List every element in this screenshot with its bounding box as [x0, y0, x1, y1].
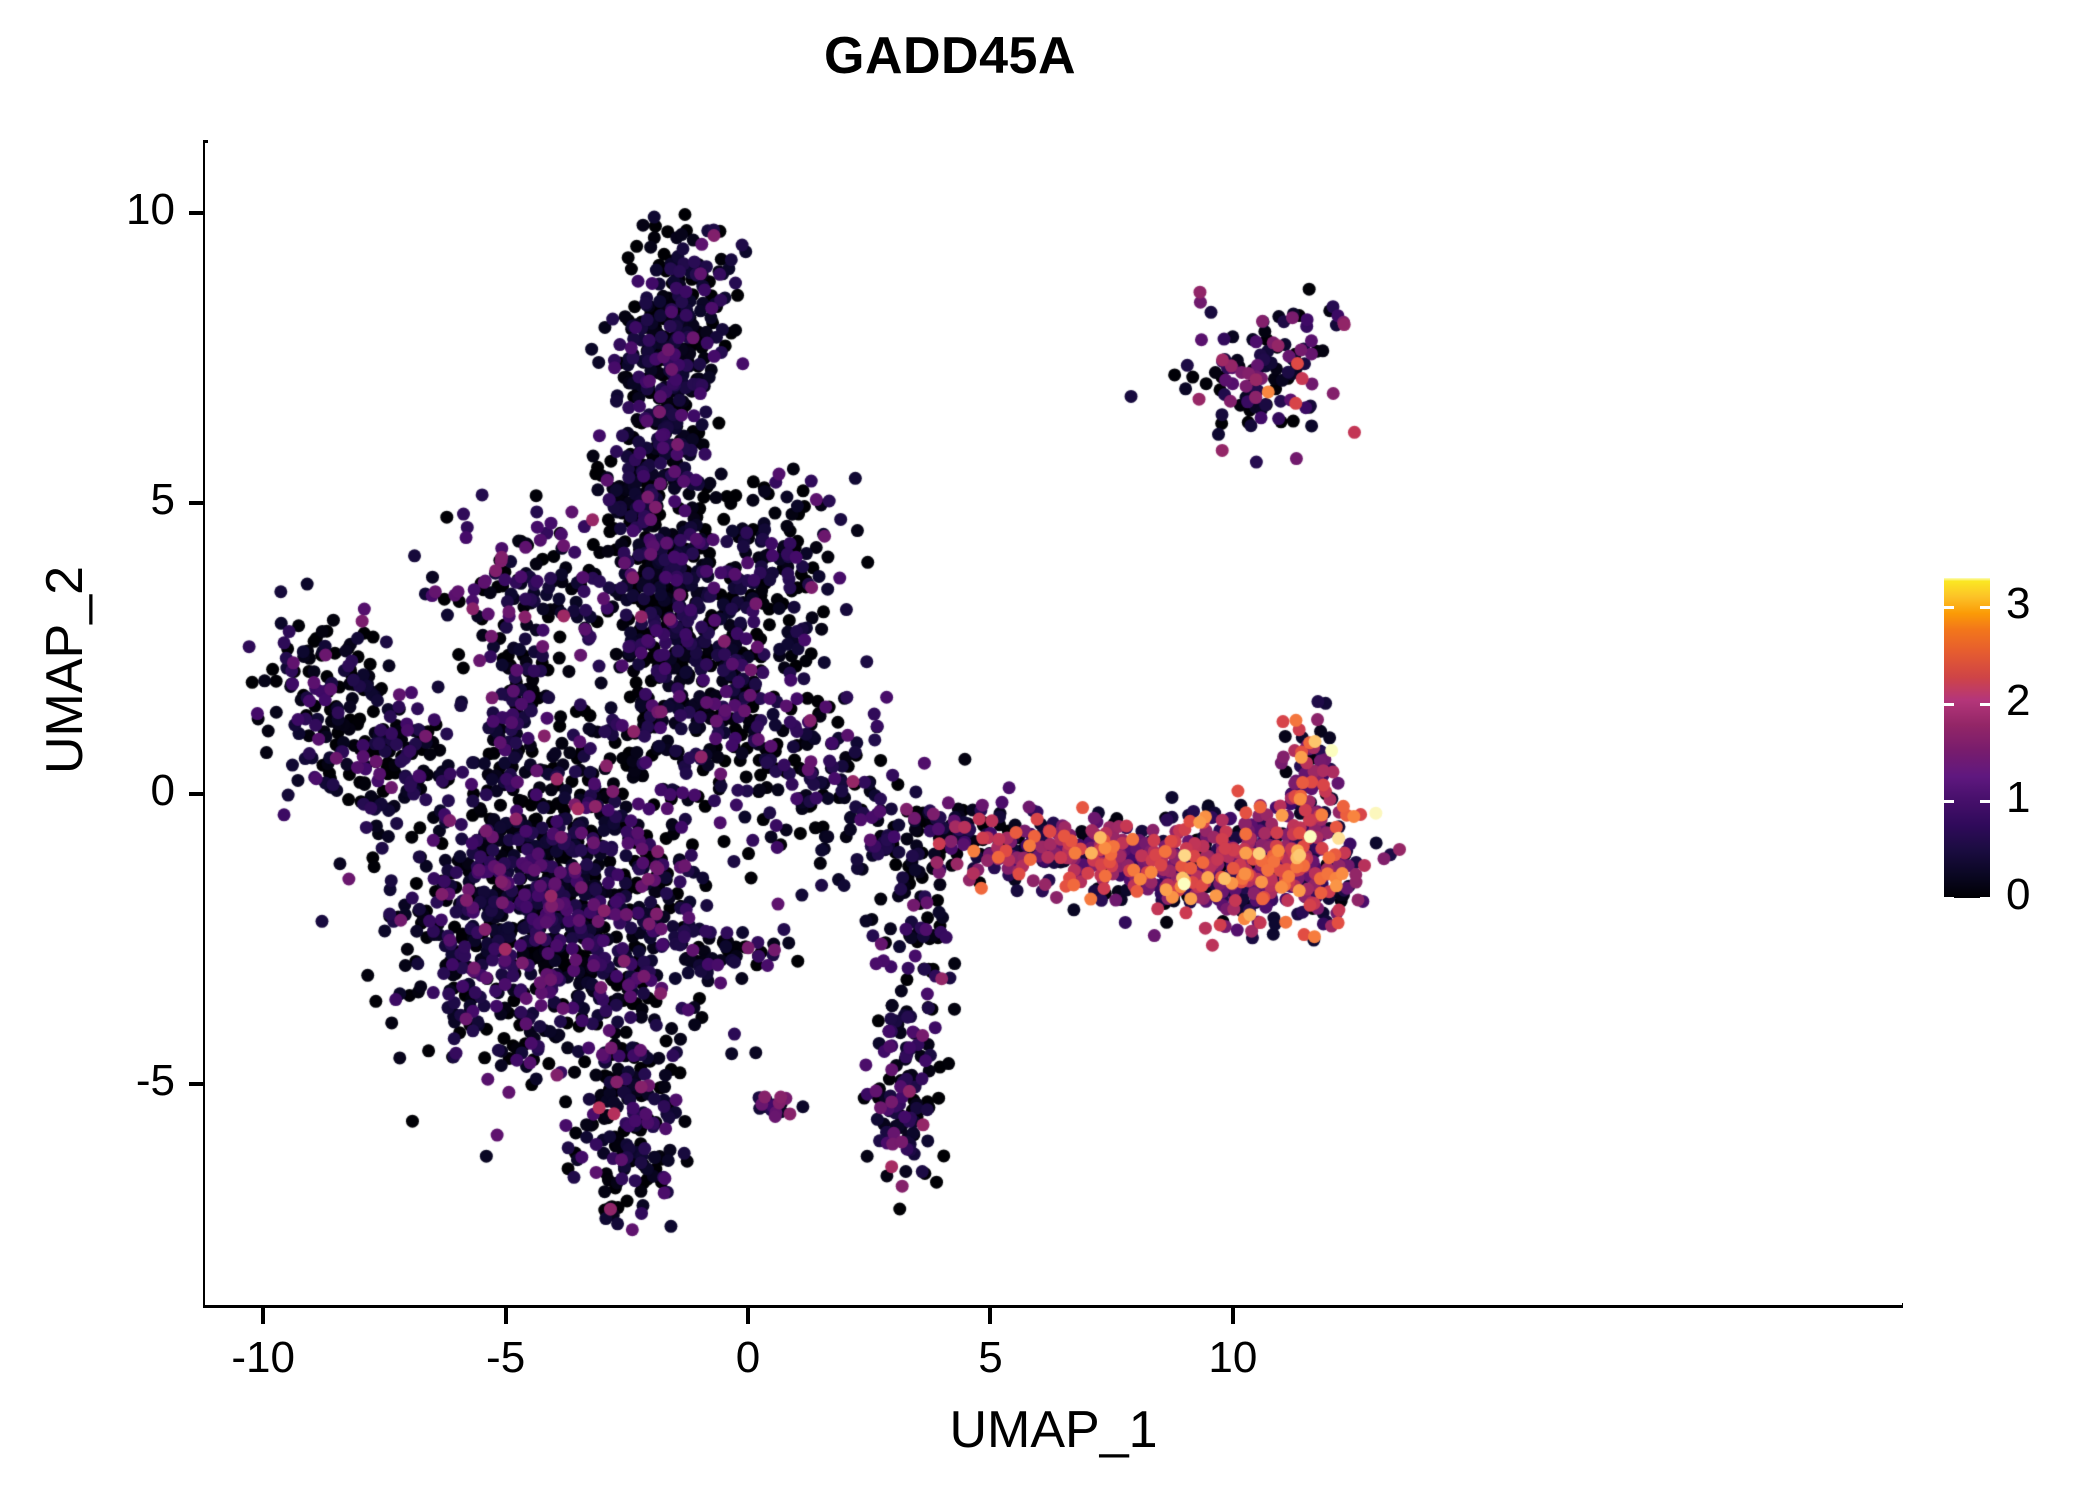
color-legend	[1944, 578, 1990, 898]
y-tick-mark	[189, 1082, 205, 1086]
legend-tick-mark	[1944, 800, 1954, 803]
x-tick-mark	[746, 1308, 750, 1324]
x-tick-mark	[1231, 1308, 1235, 1324]
y-tick-mark	[189, 211, 205, 215]
legend-tick-label: 2	[2006, 676, 2030, 726]
x-tick-label: -5	[416, 1333, 596, 1383]
x-axis-label: UMAP_1	[205, 1400, 1902, 1460]
legend-tick-mark	[1944, 606, 1954, 609]
x-tick-label: 0	[658, 1333, 838, 1383]
legend-tick-label: 0	[2006, 870, 2030, 920]
y-tick-label: 10	[15, 185, 175, 235]
x-tick-mark	[988, 1308, 992, 1324]
x-tick-label: 5	[900, 1333, 1080, 1383]
plot-panel	[205, 143, 1902, 1305]
legend-gradient-bar	[1944, 578, 1990, 898]
x-tick-label: -10	[173, 1333, 353, 1383]
figure-root: GADD45A 1050-5 -10-50510 UMAP_2 UMAP_1 3…	[0, 0, 2100, 1500]
legend-tick-label: 1	[2006, 773, 2030, 823]
y-axis-label: UMAP_2	[35, 320, 95, 1020]
legend-tick-mark	[1980, 800, 1990, 803]
x-tick-mark	[504, 1308, 508, 1324]
legend-tick-mark	[1980, 703, 1990, 706]
scatter-plot-canvas	[205, 143, 1902, 1305]
x-tick-mark	[261, 1308, 265, 1324]
y-tick-label: -5	[15, 1056, 175, 1106]
legend-tick-mark	[1944, 703, 1954, 706]
y-tick-mark	[189, 501, 205, 505]
legend-tick-mark	[1944, 897, 1954, 900]
x-tick-label: 10	[1143, 1333, 1323, 1383]
page-title: GADD45A	[0, 26, 1900, 86]
legend-tick-label: 3	[2006, 579, 2030, 629]
legend-tick-mark	[1980, 897, 1990, 900]
legend-tick-mark	[1980, 606, 1990, 609]
y-tick-mark	[189, 792, 205, 796]
